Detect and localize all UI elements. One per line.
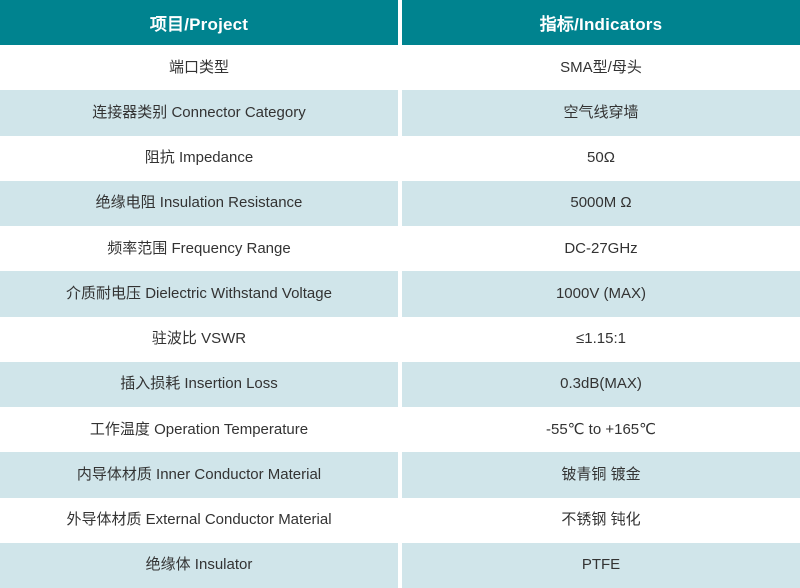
table-row: 绝缘电阻 Insulation Resistance 5000M Ω	[0, 181, 800, 226]
specification-table: 项目/Project 指标/Indicators 端口类型 SMA型/母头 连接…	[0, 0, 800, 588]
row-label: 插入损耗 Insertion Loss	[0, 362, 398, 407]
row-label: 介质耐电压 Dielectric Withstand Voltage	[0, 271, 398, 316]
row-value: PTFE	[402, 543, 800, 588]
row-label: 驻波比 VSWR	[0, 317, 398, 362]
table-row: 频率范围 Frequency Range DC-27GHz	[0, 226, 800, 271]
row-label: 阻抗 Impedance	[0, 136, 398, 181]
row-label: 外导体材质 External Conductor Material	[0, 498, 398, 543]
row-label: 端口类型	[0, 45, 398, 90]
row-value: 0.3dB(MAX)	[402, 362, 800, 407]
row-value: ≤1.15:1	[402, 317, 800, 362]
row-label: 内导体材质 Inner Conductor Material	[0, 452, 398, 497]
row-value: DC-27GHz	[402, 226, 800, 271]
table-row: 绝缘体 Insulator PTFE	[0, 543, 800, 588]
row-label: 工作温度 Operation Temperature	[0, 407, 398, 452]
table-row: 插入损耗 Insertion Loss 0.3dB(MAX)	[0, 362, 800, 407]
table-row: 介质耐电压 Dielectric Withstand Voltage 1000V…	[0, 271, 800, 316]
table-row: 端口类型 SMA型/母头	[0, 45, 800, 90]
column-header-project: 项目/Project	[0, 0, 398, 45]
row-value: 铍青铜 镀金	[402, 452, 800, 497]
row-value: -55℃ to +165℃	[402, 407, 800, 452]
table-row: 外导体材质 External Conductor Material 不锈钢 钝化	[0, 498, 800, 543]
row-value: 5000M Ω	[402, 181, 800, 226]
row-value: 空气线穿墙	[402, 90, 800, 135]
table-row: 工作温度 Operation Temperature -55℃ to +165℃	[0, 407, 800, 452]
row-label: 绝缘电阻 Insulation Resistance	[0, 181, 398, 226]
table-header-row: 项目/Project 指标/Indicators	[0, 0, 800, 45]
row-value: SMA型/母头	[402, 45, 800, 90]
row-label: 频率范围 Frequency Range	[0, 226, 398, 271]
table-row: 内导体材质 Inner Conductor Material 铍青铜 镀金	[0, 452, 800, 497]
table-row: 连接器类别 Connector Category 空气线穿墙	[0, 90, 800, 135]
row-label: 连接器类别 Connector Category	[0, 90, 398, 135]
table-row: 阻抗 Impedance 50Ω	[0, 136, 800, 181]
column-header-indicators: 指标/Indicators	[402, 0, 800, 45]
row-value: 1000V (MAX)	[402, 271, 800, 316]
row-label: 绝缘体 Insulator	[0, 543, 398, 588]
row-value: 50Ω	[402, 136, 800, 181]
table-row: 驻波比 VSWR ≤1.15:1	[0, 317, 800, 362]
row-value: 不锈钢 钝化	[402, 498, 800, 543]
